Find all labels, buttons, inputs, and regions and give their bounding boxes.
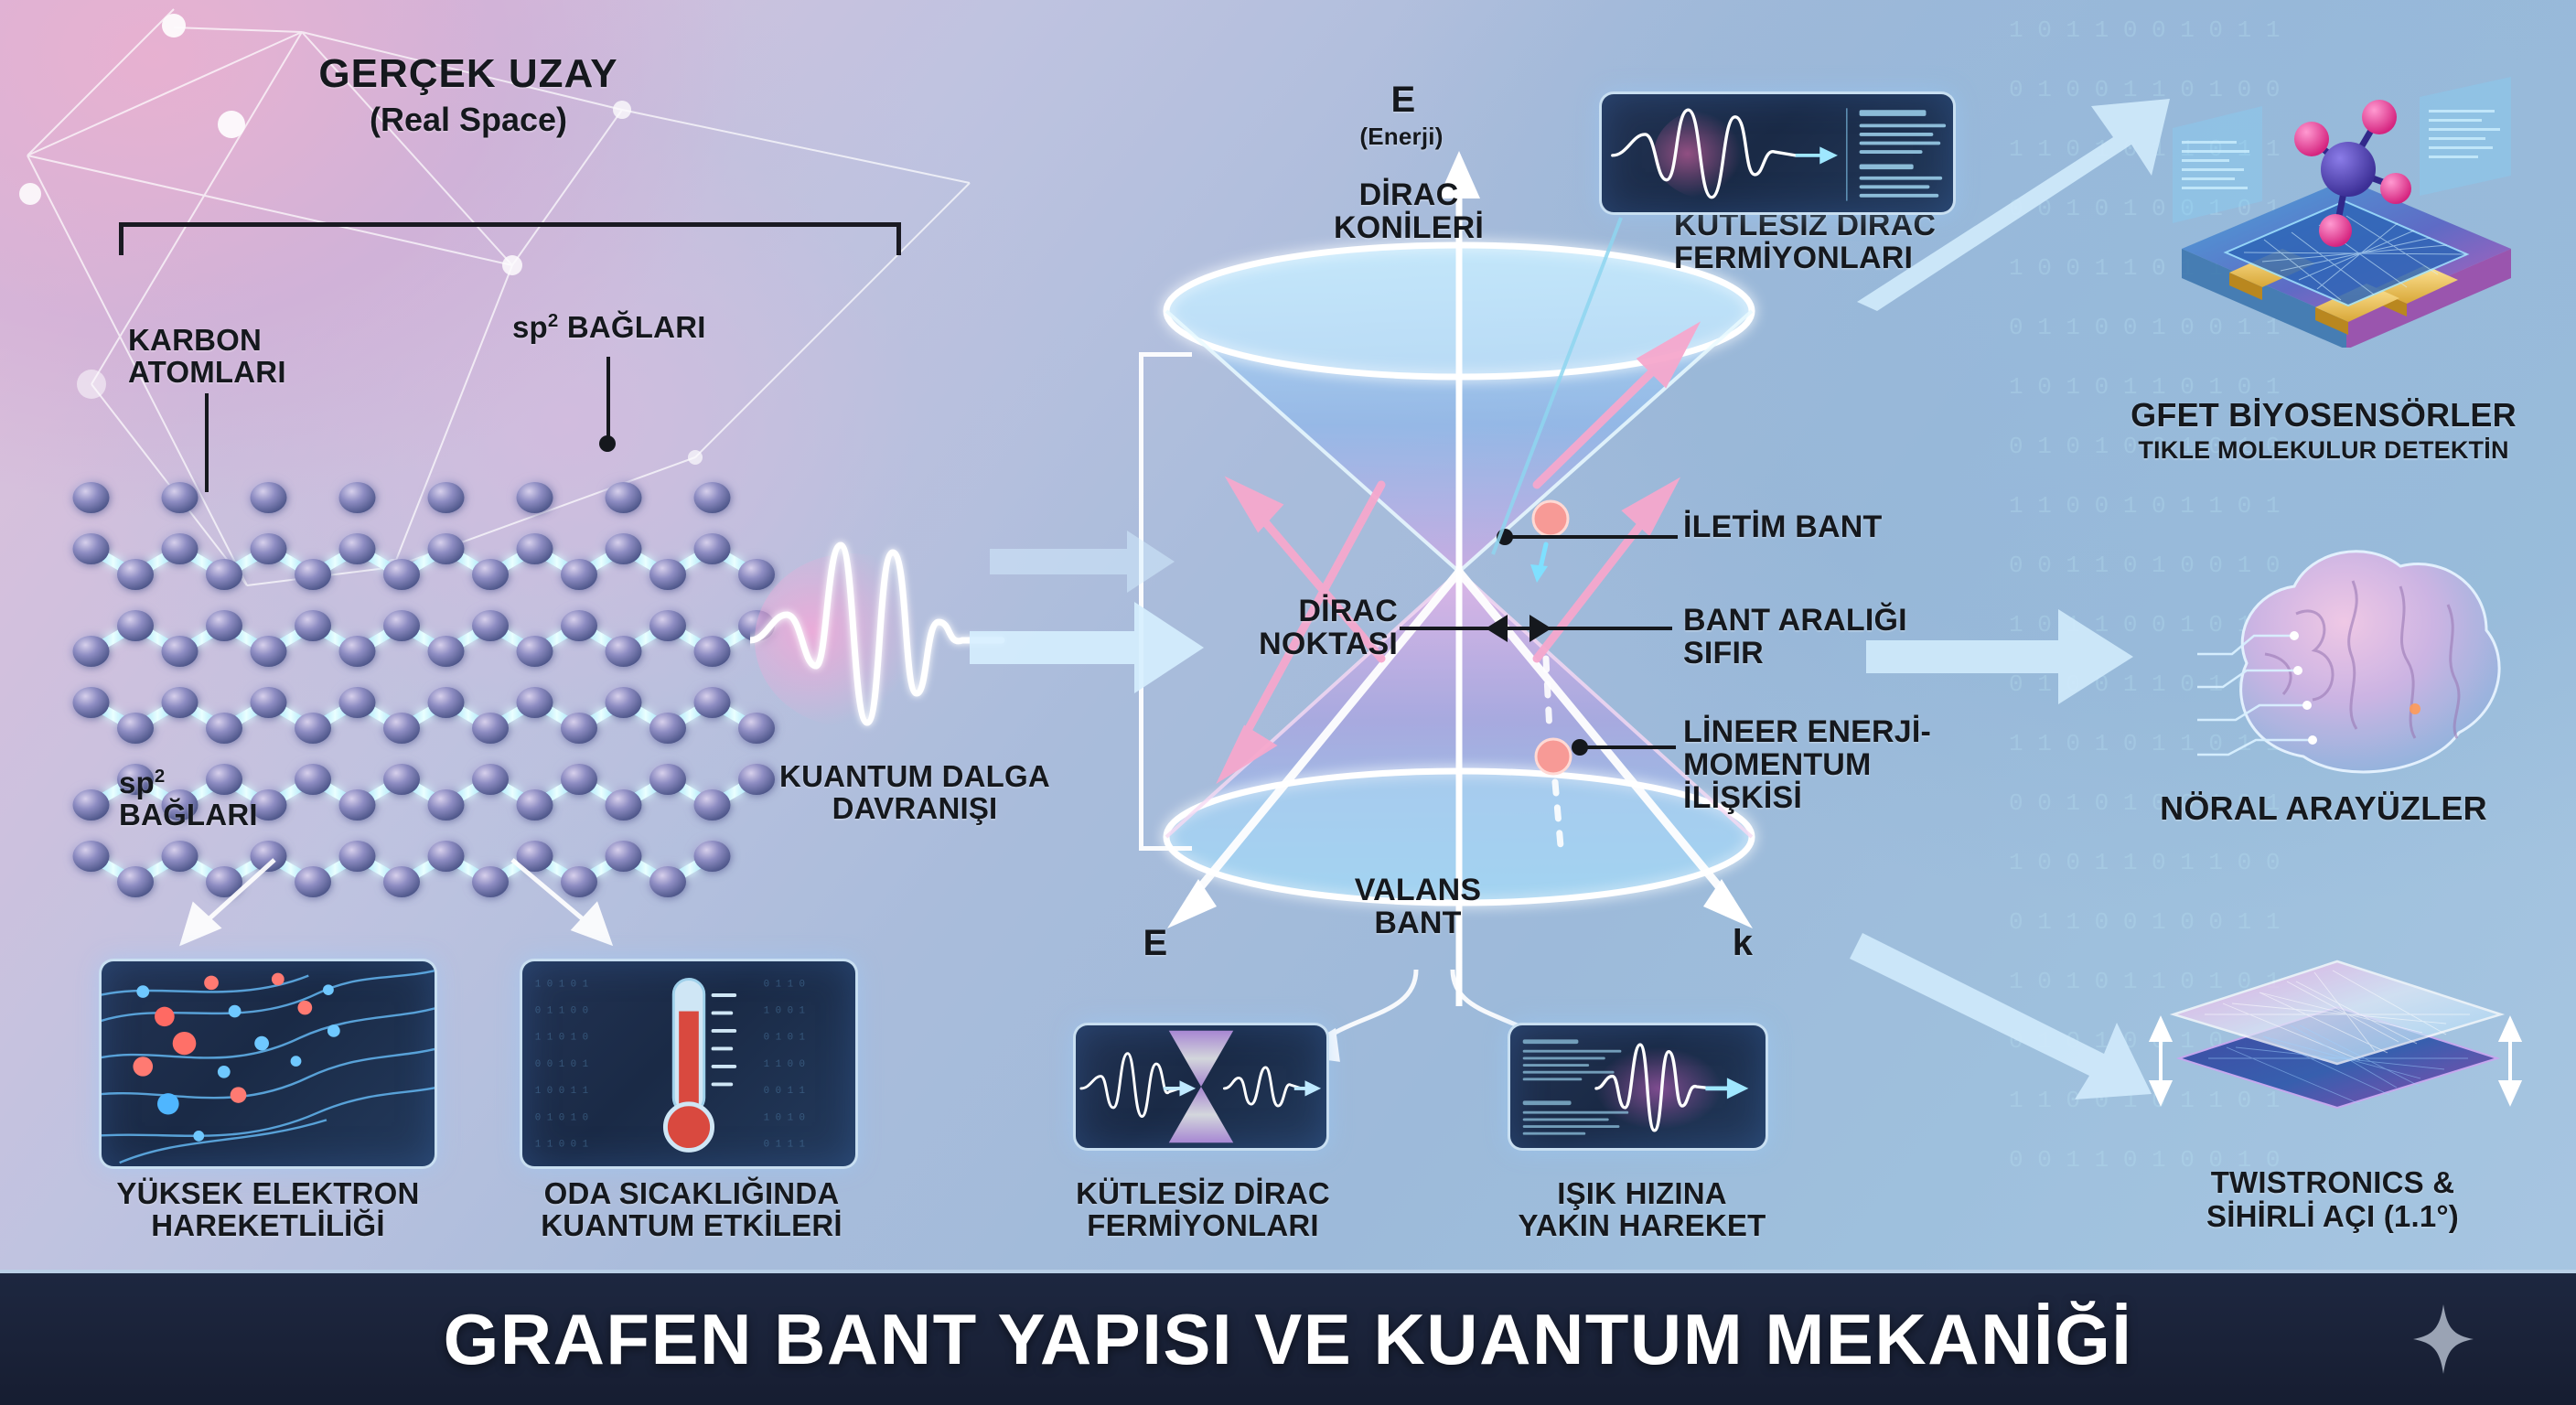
sparkle-icon	[2411, 1303, 2475, 1376]
dirac-crossing-icon	[1073, 1023, 1329, 1151]
caption-neural-interfaces: NÖRAL ARAYÜZLER	[2086, 791, 2561, 826]
svg-text:1 0 0 1: 1 0 0 1	[764, 1006, 805, 1017]
sp2-leader-line	[606, 357, 610, 439]
band-gap-leader-line	[1508, 627, 1672, 630]
svg-text:1 1 0 0 1 0 1 1 0 1: 1 1 0 0 1 0 1 1 0 1	[2009, 492, 2280, 520]
thermometer-icon: 1 0 1 0 10 1 1 0 0 1 1 0 1 00 0 1 0 1 1 …	[520, 959, 858, 1169]
svg-text:1 0 0 1 1 0 1 1 0 0: 1 0 0 1 1 0 1 1 0 0	[2009, 849, 2280, 876]
electron-streaks-icon	[99, 959, 437, 1169]
svg-text:1 0 1 1 0 0 1 0 1 1: 1 0 1 1 0 0 1 0 1 1	[2009, 16, 2280, 44]
axis-label-energy-top: E	[1348, 80, 1458, 119]
label-valence-band: VALANSBANT	[1290, 874, 1546, 939]
infographic-canvas: 1 0 1 1 0 0 1 0 1 10 1 0 0 1 1 0 1 0 0 1…	[0, 0, 2576, 1405]
twisted-bilayer-icon	[2131, 919, 2543, 1157]
wave-function-panel-icon	[1599, 91, 1956, 215]
graphene-lattice-icon	[80, 476, 794, 906]
label-massless-dirac-fermions-top: KÜTLESİZ DİRACFERMİYONLARI	[1674, 209, 2031, 274]
svg-text:1 1 0 0 1: 1 1 0 0 1	[535, 1140, 588, 1151]
sp2-leader-dot	[599, 435, 616, 452]
label-zero-band-gap: BANT ARALIĞISIFIR	[1683, 604, 1994, 670]
caption-high-electron-mobility: YÜKSEK ELEKTRONHAREKETLİLİĞİ	[90, 1178, 446, 1242]
svg-text:0 1 0 1 0: 0 1 0 1 0	[535, 1112, 588, 1123]
label-quantum-wave-behaviour: KUANTUM DALGADAVRANIŞI	[732, 761, 1098, 825]
carbon-atoms-leader-line	[205, 393, 209, 492]
svg-text:0 1 1 1: 0 1 1 1	[764, 1140, 805, 1151]
page-title-real-space: GERÇEK UZAY	[212, 53, 724, 96]
page-subtitle-real-space: (Real Space)	[212, 102, 724, 137]
caption-room-temp-quantum-effects: ODA SICAKLIĞINDAKUANTUM ETKİLERİ	[509, 1178, 875, 1242]
label-dirac-cones: DİRACKONİLERİ	[1276, 178, 1541, 244]
svg-text:0 1 1 0: 0 1 1 0	[764, 979, 805, 990]
axis-label-energy-bottom: E	[1123, 924, 1187, 962]
axis-sublabel-energy: (Enerji)	[1310, 124, 1493, 150]
caption-twistronics-magic-angle: TWISTRONICS &SİHİRLİ AÇI (1.1°)	[2122, 1166, 2543, 1234]
svg-text:1 0 1 0: 1 0 1 0	[764, 1112, 805, 1123]
label-dirac-point: DİRACNOKTASI	[1151, 595, 1398, 660]
svg-text:0 1 1 0 0: 0 1 1 0 0	[535, 1006, 588, 1017]
svg-text:0 0 1 1: 0 0 1 1	[764, 1086, 805, 1097]
fast-wave-panel-icon	[1508, 1023, 1768, 1151]
gfet-device-icon	[2145, 46, 2548, 348]
axis-label-momentum: k	[1711, 924, 1775, 962]
caption-near-light-speed-motion: IŞIK HIZINAYAKIN HAREKET	[1491, 1178, 1793, 1242]
electron-particle-upper	[1530, 501, 1568, 583]
svg-text:1 0 0 1 1: 1 0 0 1 1	[535, 1086, 588, 1097]
title-bar: GRAFEN BANT YAPISI VE KUANTUM MEKANİĞİ	[0, 1270, 2576, 1405]
caption-gfet-biosensors-sub: TIKLE MOLEKULUR DETEKTİN	[2086, 437, 2561, 464]
conduction-band-leader-line	[1511, 535, 1678, 539]
linear-dispersion-leader-line	[1586, 745, 1676, 749]
band-gap-arrowhead	[1486, 615, 1508, 642]
label-sp2-bonds-bottom: sp2BAĞLARI	[119, 767, 348, 831]
label-sp2-bonds-top: sp2 BAĞLARI	[512, 311, 814, 344]
svg-text:1 0 1 0 1: 1 0 1 0 1	[535, 979, 588, 990]
main-title: GRAFEN BANT YAPISI VE KUANTUM MEKANİĞİ	[444, 1298, 2133, 1381]
label-linear-energy-momentum: LİNEER ENERJİ-MOMENTUMİLİŞKİSİ	[1683, 715, 1994, 814]
caption-gfet-biosensors: GFET BİYOSENSÖRLER	[2086, 398, 2561, 433]
brain-icon	[2195, 526, 2543, 828]
svg-text:1 1 0 1 0: 1 1 0 1 0	[535, 1033, 588, 1044]
svg-text:1 1 0 0: 1 1 0 0	[764, 1059, 805, 1070]
svg-text:0 1 0 1: 0 1 0 1	[764, 1033, 805, 1044]
label-carbon-atoms: KARBONATOMLARI	[128, 325, 402, 389]
label-conduction-band: İLETİM BANT	[1683, 510, 2031, 543]
caption-massless-dirac-fermions: KÜTLESİZ DİRACFERMİYONLARI	[1061, 1178, 1345, 1242]
real-space-bracket	[119, 222, 901, 255]
svg-text:0 0 1 0 1: 0 0 1 0 1	[535, 1059, 588, 1070]
